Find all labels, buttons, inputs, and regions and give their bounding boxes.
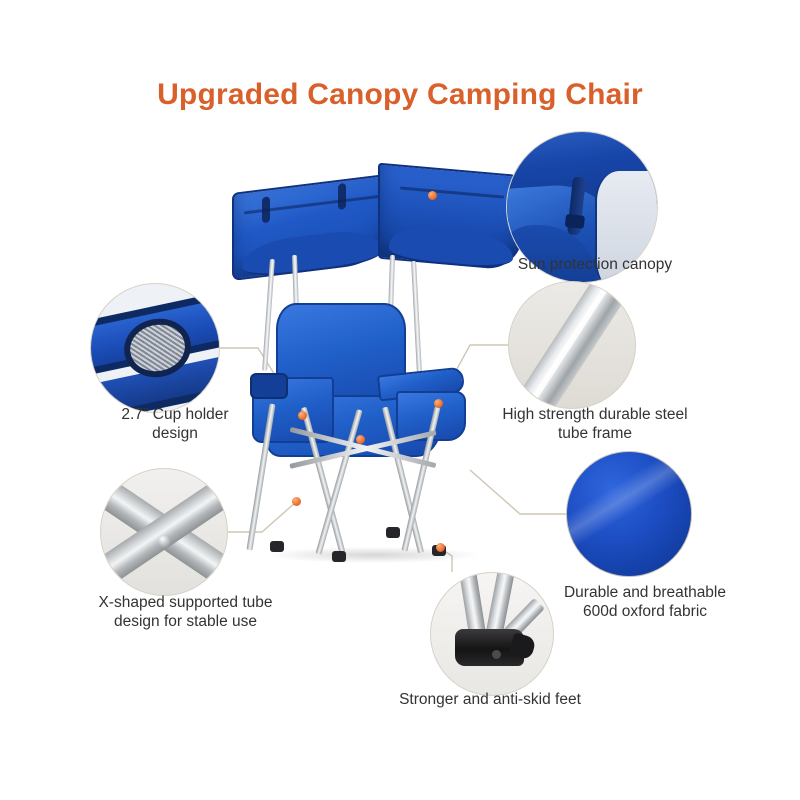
feature-circle-cup-holder (90, 283, 220, 413)
anchor-dot-fabric (356, 435, 365, 444)
feature-label-line: X-shaped supported tube (58, 593, 313, 612)
feature-circle-oxford-fabric (566, 451, 692, 577)
feature-label-line: 600d oxford fabric (545, 602, 745, 621)
feature-label-line: Sun protection canopy (480, 255, 710, 274)
x-tube-detail-rivet (158, 535, 171, 548)
canopy-panel-left (232, 173, 394, 281)
canopy-wave-edge-left (243, 226, 382, 279)
feature-label-line: High strength durable steel (470, 405, 720, 424)
feature-label-line: design for stable use (58, 612, 313, 631)
product-image-canopy-camping-chair (228, 155, 518, 575)
feature-label-x-shaped-tube: X-shaped supported tube design for stabl… (58, 593, 313, 632)
feature-label-line: design (60, 424, 290, 443)
feature-label-line: Stronger and anti-skid feet (370, 690, 610, 709)
anchor-dot-canopy (428, 191, 437, 200)
ground-shadow (268, 547, 478, 563)
chair-foot-middle (386, 527, 400, 538)
feature-label-steel-tube-frame: High strength durable steel tube frame (470, 405, 720, 444)
feature-label-line: 2.7" Cup holder (60, 405, 290, 424)
feature-label-line: tube frame (470, 424, 720, 443)
canopy-pole-right-outer (411, 261, 422, 373)
anchor-dot-x-tube (292, 497, 301, 506)
canopy-seam-right (400, 187, 504, 199)
cup-holder-left (250, 373, 288, 399)
chair-foot-left (270, 541, 284, 552)
feature-label-cup-holder: 2.7" Cup holder design (60, 405, 290, 444)
feature-label-line: Durable and breathable (545, 583, 745, 602)
feature-label-oxford-fabric: Durable and breathable 600d oxford fabri… (545, 583, 745, 622)
anchor-dot-cup-holder (298, 411, 307, 420)
chair-foot-front (332, 551, 346, 562)
feature-circle-steel-tube-frame (508, 281, 636, 409)
feature-label-anti-skid-feet: Stronger and anti-skid feet (370, 690, 610, 709)
anchor-dot-steel-tube (434, 399, 443, 408)
feature-circle-anti-skid-feet (430, 572, 554, 696)
page-title: Upgraded Canopy Camping Chair (0, 78, 800, 112)
anchor-dot-feet (436, 543, 445, 552)
canopy-zipper-right (338, 183, 346, 210)
fabric-detail-sheen (566, 451, 692, 548)
product-infographic: Upgraded Canopy Camping Chair (0, 0, 800, 800)
feature-label-sun-protection-canopy: Sun protection canopy (480, 255, 710, 274)
feet-detail-black-foot (455, 629, 523, 666)
feature-circle-x-shaped-tube (100, 468, 228, 596)
